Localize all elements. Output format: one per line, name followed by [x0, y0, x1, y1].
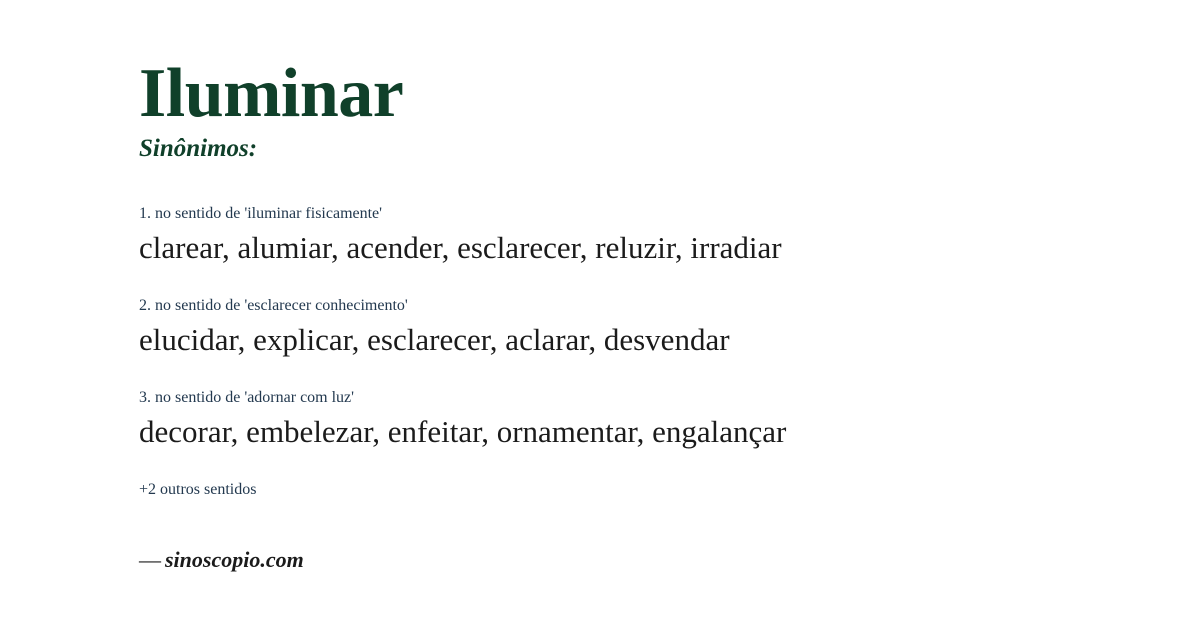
sense-synonyms: clarear, alumiar, acender, esclarecer, r…	[139, 229, 1140, 266]
sense-label: 3. no sentido de 'adornar com luz'	[139, 388, 1140, 408]
sense-label: 1. no sentido de 'iluminar fisicamente'	[139, 204, 1140, 224]
sense-label: 2. no sentido de 'esclarecer conheciment…	[139, 296, 1140, 316]
sense-list: 1. no sentido de 'iluminar fisicamente' …	[139, 204, 1140, 451]
em-dash-icon: —	[139, 547, 165, 572]
sense-block: 2. no sentido de 'esclarecer conheciment…	[139, 296, 1140, 358]
subtitle-sinonimos: Sinônimos:	[139, 135, 1140, 163]
synonym-card: Iluminar Sinônimos: 1. no sentido de 'il…	[0, 0, 1200, 628]
source-name: sinoscopio.com	[165, 547, 304, 572]
more-senses-note: +2 outros sentidos	[139, 480, 1140, 500]
sense-block: 1. no sentido de 'iluminar fisicamente' …	[139, 204, 1140, 266]
sense-synonyms: decorar, embelezar, enfeitar, ornamentar…	[139, 413, 1140, 450]
sense-synonyms: elucidar, explicar, esclarecer, aclarar,…	[139, 321, 1140, 358]
sense-block: 3. no sentido de 'adornar com luz' decor…	[139, 388, 1140, 450]
page-title: Iluminar	[139, 58, 1140, 129]
attribution: —sinoscopio.com	[139, 547, 1140, 573]
